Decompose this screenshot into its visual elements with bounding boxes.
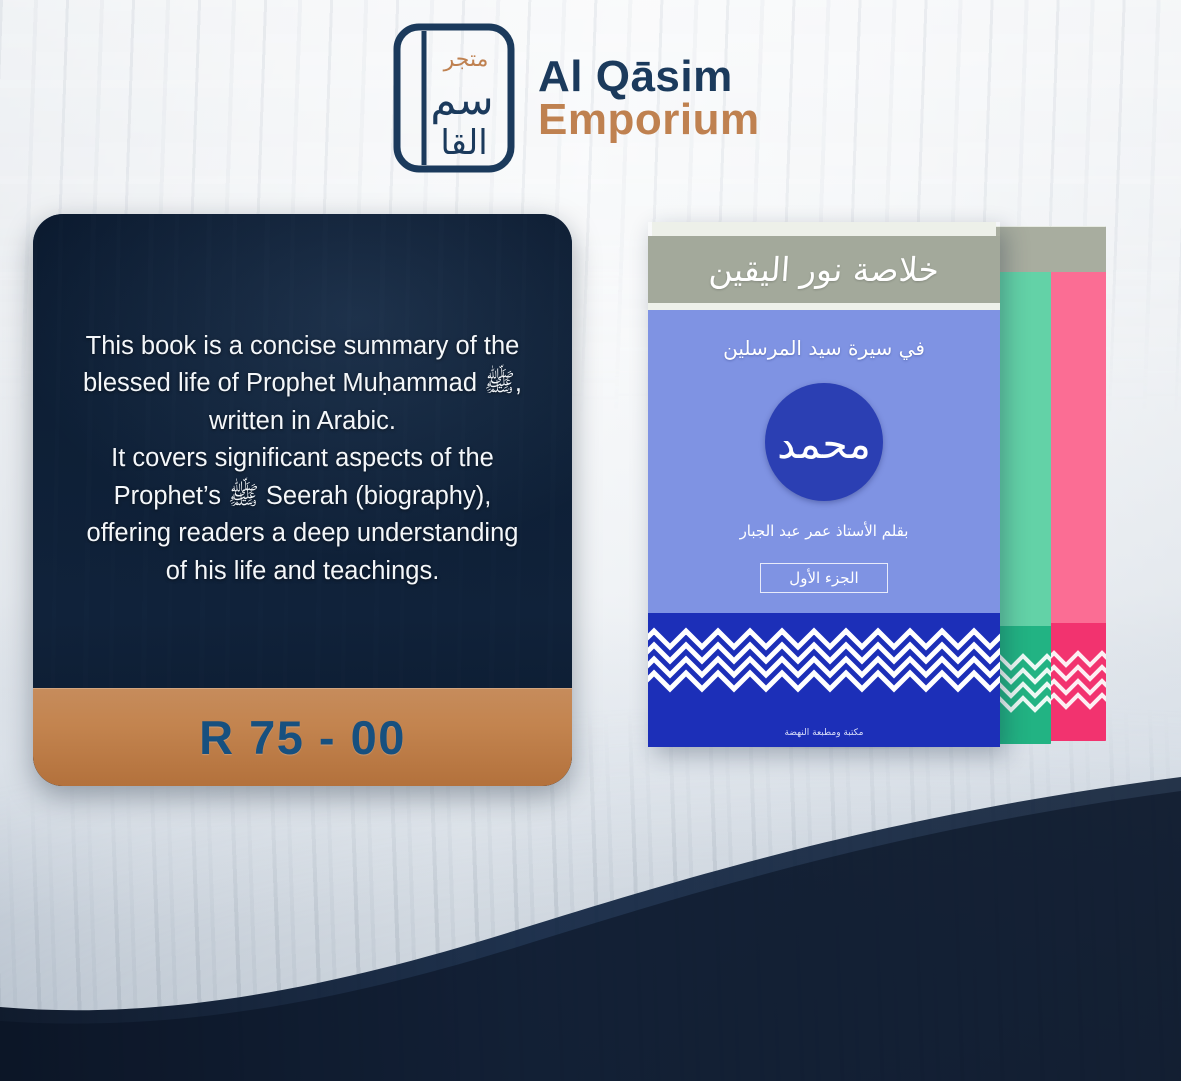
green-copy-top-edge [993,226,1051,272]
pink-copy-footer [1048,623,1106,741]
product-description-text: This book is a concise summary of the bl… [83,328,522,590]
product-description-card: This book is a concise summary of the bl… [33,214,572,786]
brand-header: متجر سم القا Al Qāsim Emporium [392,22,760,174]
pink-copy-zigzag-pattern [1048,645,1106,723]
book-medallion: محمد [765,383,883,501]
book-zigzag-pattern [648,627,1000,699]
green-copy-zigzag-pattern [993,648,1051,726]
book-copy-pink [1048,226,1106,741]
book-front-cover: خلاصة نور اليقين في سيرة سيد المرسلين مح… [648,222,1000,747]
book-footer-band: مكتبة ومطبعة النهضة [648,613,1000,747]
book-volume-arabic: الجزء الأول [789,569,858,587]
brand-wordmark: Al Qāsim Emporium [538,55,760,141]
book-title-arabic: خلاصة نور اليقين [708,250,941,289]
svg-text:سم: سم [430,75,493,125]
book-medallion-arabic: محمد [777,424,871,465]
book-copy-green [993,226,1051,744]
book-cover-field: في سيرة سيد المرسلين محمد بقلم الأستاذ ع… [648,310,1000,747]
book-top-page-edge [652,222,996,236]
pink-copy-top-edge [1048,226,1106,272]
card-text-area: This book is a concise summary of the bl… [33,214,572,688]
svg-text:القا: القا [440,123,487,163]
svg-text:متجر: متجر [443,47,489,72]
book-author-arabic: بقلم الأستاذ عمر عبد الجبار [648,522,1000,540]
price-value: R 75 - 00 [199,710,406,765]
book-stack: خلاصة نور اليقين في سيرة سيد المرسلين مح… [648,212,1118,747]
book-volume-box: الجزء الأول [760,563,888,593]
book-title-band: خلاصة نور اليقين [648,236,1000,303]
book-publisher-arabic: مكتبة ومطبعة النهضة [648,728,1000,738]
price-banner: R 75 - 00 [33,688,572,786]
book-band-gap [648,303,1000,310]
book-subtitle-arabic: في سيرة سيد المرسلين [648,336,1000,360]
al-qasim-book-logo-icon: متجر سم القا [392,22,516,174]
brand-name-secondary: Emporium [538,98,760,141]
green-copy-footer [993,626,1051,744]
brand-name-primary: Al Qāsim [538,55,760,98]
poster-canvas: متجر سم القا Al Qāsim Emporium This book… [0,0,1181,1081]
